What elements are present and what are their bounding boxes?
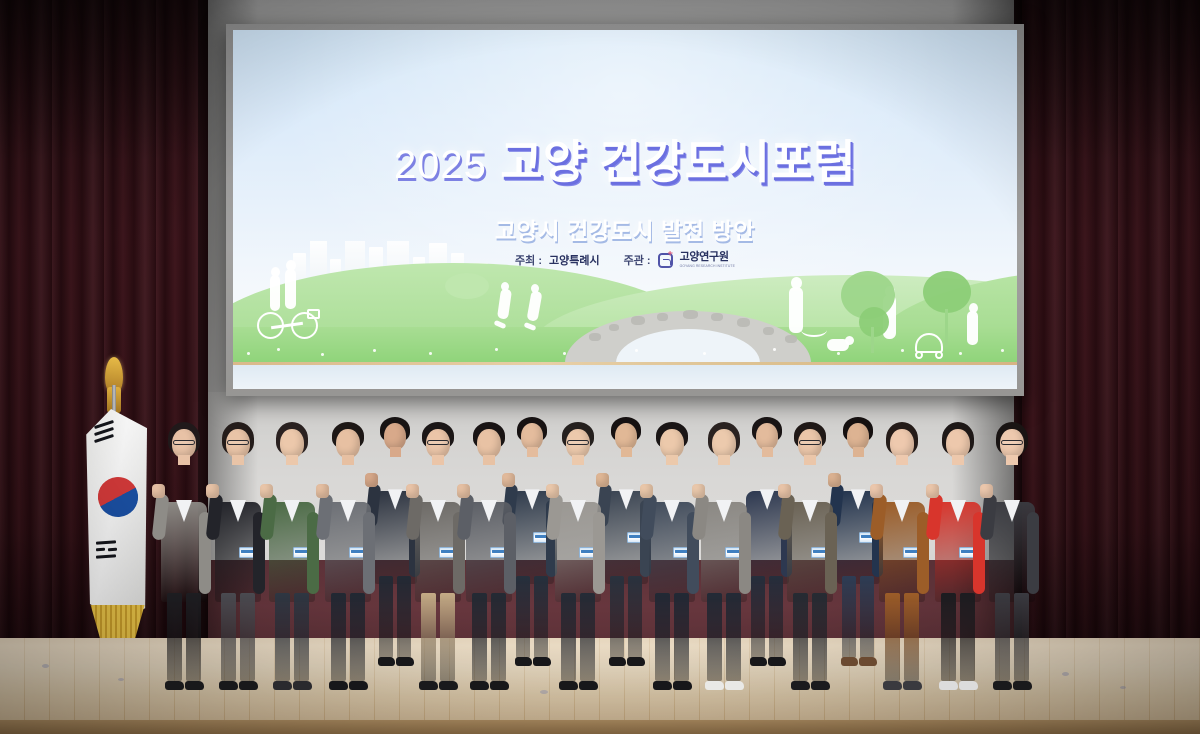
shoe — [579, 681, 598, 690]
face — [712, 429, 736, 458]
legs — [842, 576, 856, 658]
shoe — [273, 681, 292, 690]
shoe — [470, 681, 489, 690]
glasses-icon — [567, 440, 589, 445]
participant — [266, 420, 318, 690]
legs — [331, 593, 346, 681]
raised-fist — [206, 484, 219, 498]
participant — [212, 420, 264, 690]
legs — [860, 576, 874, 658]
stroller-icon — [915, 333, 943, 353]
shoe — [1013, 681, 1032, 690]
face — [521, 423, 543, 450]
shoe — [959, 681, 978, 690]
arm — [1027, 512, 1039, 594]
participant — [552, 420, 604, 690]
shoe — [559, 681, 578, 690]
neck — [853, 447, 864, 456]
shoe — [883, 681, 902, 690]
shoe — [165, 681, 184, 690]
dog-head-icon — [845, 336, 854, 345]
shoe — [627, 657, 645, 666]
neck — [390, 447, 401, 456]
raised-fist — [546, 484, 559, 498]
legs — [628, 576, 642, 658]
shoe — [725, 681, 744, 690]
legs — [941, 593, 956, 681]
legs — [516, 576, 530, 658]
neck — [178, 455, 190, 465]
neck — [483, 455, 495, 465]
arm — [593, 512, 605, 594]
shoe — [791, 681, 810, 690]
legs — [440, 593, 455, 681]
legs — [534, 576, 548, 658]
legs — [186, 593, 201, 681]
cobble-stone — [589, 333, 601, 341]
legs — [275, 593, 290, 681]
shoe — [903, 681, 922, 690]
participant — [463, 420, 515, 690]
legs — [240, 593, 255, 681]
legs — [751, 576, 765, 658]
legs — [472, 593, 487, 681]
raised-fist — [870, 484, 883, 498]
shoe — [993, 681, 1012, 690]
neck — [232, 455, 244, 465]
cobble-stone — [737, 318, 750, 327]
shoe — [219, 681, 238, 690]
arm — [504, 512, 516, 594]
cobble-stone — [785, 335, 797, 343]
neck — [952, 455, 964, 465]
participant — [322, 420, 374, 690]
neck — [621, 447, 632, 456]
shoe — [239, 681, 258, 690]
raised-fist — [640, 484, 653, 498]
shoe — [705, 681, 724, 690]
slide-title: 2025 고양 건강도시포럼 — [233, 126, 1017, 192]
cobble-stone — [631, 316, 645, 325]
neck — [572, 455, 584, 465]
raised-fist — [260, 484, 273, 498]
raised-fist — [152, 484, 165, 498]
face — [477, 429, 501, 458]
participant — [784, 420, 836, 690]
face — [847, 423, 869, 450]
shoe — [811, 681, 830, 690]
participant — [158, 420, 210, 690]
legs — [379, 576, 393, 658]
shoe — [515, 657, 533, 666]
legs — [561, 593, 576, 681]
legs — [793, 593, 808, 681]
legs — [812, 593, 827, 681]
cobble-stone — [657, 313, 668, 321]
shoe — [185, 681, 204, 690]
neck — [762, 447, 773, 456]
shoe — [293, 681, 312, 690]
participant — [698, 420, 750, 690]
neck — [718, 455, 730, 465]
cobble-stone — [763, 327, 774, 335]
shoe — [490, 681, 509, 690]
shoe — [673, 681, 692, 690]
raised-fist — [778, 484, 791, 498]
legs — [885, 593, 900, 681]
raised-fist — [926, 484, 939, 498]
neck — [432, 455, 444, 465]
tree-icon — [859, 307, 889, 337]
participant — [876, 420, 928, 690]
legs — [350, 593, 365, 681]
face — [946, 429, 970, 458]
shoe — [378, 657, 396, 666]
participant — [602, 415, 650, 666]
neck — [286, 455, 298, 465]
neck — [896, 455, 908, 465]
cyclist-body-icon — [285, 269, 296, 309]
neck — [527, 447, 538, 456]
neck — [666, 455, 678, 465]
slide-illustration — [233, 241, 1017, 389]
presentation-slide: 2025 고양 건강도시포럼 고양시 건강도시 발전 방안 주최 : 고양특례시… — [233, 30, 1017, 389]
glasses-icon — [173, 440, 195, 445]
neck — [342, 455, 354, 465]
legs — [221, 593, 236, 681]
legs — [960, 593, 975, 681]
shoe — [419, 681, 438, 690]
legs — [610, 576, 624, 658]
raised-fist — [980, 484, 993, 498]
stroller-wheel-icon — [915, 351, 923, 359]
shoe — [859, 657, 877, 666]
cobble-stone — [711, 313, 723, 321]
neck — [804, 455, 816, 465]
cobble-stone — [683, 310, 698, 319]
arm — [825, 512, 837, 594]
shoe — [939, 681, 958, 690]
stroller-wheel-icon — [935, 351, 943, 359]
legs — [167, 593, 182, 681]
raised-fist — [457, 484, 470, 498]
cobble-stone — [609, 324, 619, 331]
face — [615, 423, 637, 450]
glasses-icon — [427, 440, 449, 445]
glasses-icon — [799, 440, 821, 445]
participant — [932, 420, 984, 690]
legs — [655, 593, 670, 681]
face — [280, 429, 304, 458]
tree-trunk-icon — [945, 309, 948, 347]
shoe — [609, 657, 627, 666]
shoe — [439, 681, 458, 690]
slide-year: 2025 — [394, 143, 487, 187]
slide-title-main: 고양 건강도시포럼 — [500, 136, 856, 188]
bicycle-basket-icon — [307, 309, 320, 319]
glasses-icon — [227, 440, 249, 445]
tree-icon — [923, 271, 971, 313]
legs — [580, 593, 595, 681]
stage-scene: 2025 고양 건강도시포럼 고양시 건강도시 발전 방안 주최 : 고양특례시… — [0, 0, 1200, 734]
bush-icon — [445, 273, 489, 299]
raised-fist — [692, 484, 705, 498]
legs — [904, 593, 919, 681]
cyclist-body-icon — [270, 275, 280, 311]
arm — [739, 512, 751, 594]
shoe — [349, 681, 368, 690]
legs — [397, 576, 411, 658]
child-body-icon — [967, 311, 978, 345]
legs — [726, 593, 741, 681]
group-of-participants — [140, 380, 1095, 690]
face — [336, 429, 360, 458]
raised-fist — [406, 484, 419, 498]
neck — [1006, 455, 1018, 465]
legs — [707, 593, 722, 681]
shoe — [653, 681, 672, 690]
face — [384, 423, 406, 450]
face — [660, 429, 684, 458]
glasses-icon — [1001, 440, 1023, 445]
arm — [363, 512, 375, 594]
legs — [1014, 593, 1029, 681]
face — [890, 429, 914, 458]
projection-screen-frame: 2025 고양 건강도시포럼 고양시 건강도시 발전 방안 주최 : 고양특례시… — [226, 24, 1024, 396]
shoe — [750, 657, 768, 666]
shoe — [329, 681, 348, 690]
flag-fringe — [87, 605, 147, 639]
legs — [769, 576, 783, 658]
legs — [995, 593, 1010, 681]
legs — [674, 593, 689, 681]
participant — [986, 420, 1038, 690]
tree-trunk-icon — [871, 327, 874, 353]
legs — [491, 593, 506, 681]
raised-fist — [316, 484, 329, 498]
dog-leash-icon — [801, 323, 827, 337]
legs — [421, 593, 436, 681]
shoe — [841, 657, 859, 666]
shoe — [533, 657, 551, 666]
participant — [646, 420, 698, 690]
legs — [294, 593, 309, 681]
face — [756, 423, 778, 450]
participant — [412, 420, 464, 690]
